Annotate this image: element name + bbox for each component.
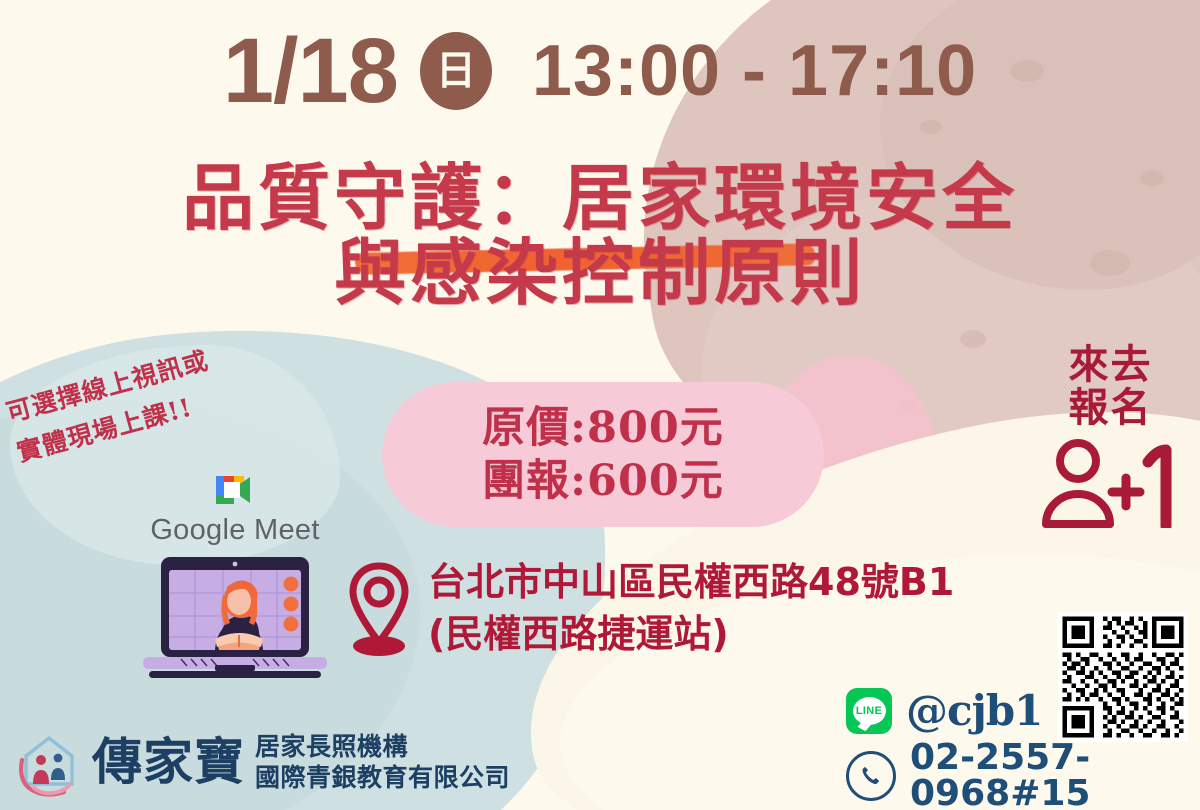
line-icon-label: LINE: [856, 705, 882, 717]
line-contact-row[interactable]: LINE @cjb1: [846, 688, 1200, 734]
event-poster: 1/18 日 13:00 - 17:10 品質守護：居家環境安全 與感染控制原則…: [0, 0, 1200, 810]
phone-contact-row[interactable]: 02-2557-0968#15: [846, 740, 1200, 810]
original-price: 原價:800元: [482, 403, 724, 454]
brand-subtitle-2: 國際青銀教育有限公司: [255, 763, 510, 793]
google-meet-label: Google Meet: [150, 514, 319, 547]
line-id: @cjb1: [906, 690, 1042, 732]
group-price: 團報:600元: [482, 456, 724, 507]
online-option-block: Google Meet: [110, 472, 360, 683]
person-add-icon: [1036, 436, 1186, 528]
venue-address: 台北市中山區民權西路48號B1 (民權西路捷運站): [348, 556, 1088, 658]
title-line-1: 品質守護：居家環境安全: [0, 158, 1200, 237]
signup-line-1: 來去: [1069, 344, 1153, 387]
laptop-video-call-illustration: [135, 553, 335, 683]
title-line-2: 與感染控制原則: [0, 233, 1200, 312]
brand-subtitle-1: 居家長照機構: [255, 732, 510, 762]
signup-line-2: 報名: [1069, 387, 1153, 430]
attendance-mode-note: 可選擇線上視訊或 實體現場上課!!: [2, 329, 265, 473]
weekday-badge: 日: [420, 32, 492, 110]
brand-name: 傳家寶: [92, 737, 245, 787]
house-care-logo: [14, 726, 84, 798]
contact-block: LINE @cjb1 02-2557-0968#15: [846, 688, 1200, 810]
line-icon[interactable]: LINE: [846, 688, 892, 734]
event-date: 1/18: [223, 25, 398, 117]
event-datetime-header: 1/18 日 13:00 - 17:10: [0, 16, 1200, 126]
address-line-2: (民權西路捷運站): [428, 612, 954, 658]
google-meet-icon: [212, 472, 258, 508]
price-bubble: 原價:800元 團報:600元: [382, 382, 824, 527]
phone-number: 02-2557-0968#15: [910, 740, 1200, 810]
address-line-1: 台北市中山區民權西路48號B1: [428, 560, 954, 606]
poster-title: 品質守護：居家環境安全 與感染控制原則: [0, 158, 1200, 312]
phone-icon: [846, 751, 896, 801]
signup-callout[interactable]: 來去 報名: [1028, 344, 1193, 528]
event-time-range: 13:00 - 17:10: [532, 35, 977, 107]
brand-block: 傳家寶 居家長照機構 國際青銀教育有限公司: [14, 726, 510, 798]
location-pin-icon: [348, 562, 410, 658]
